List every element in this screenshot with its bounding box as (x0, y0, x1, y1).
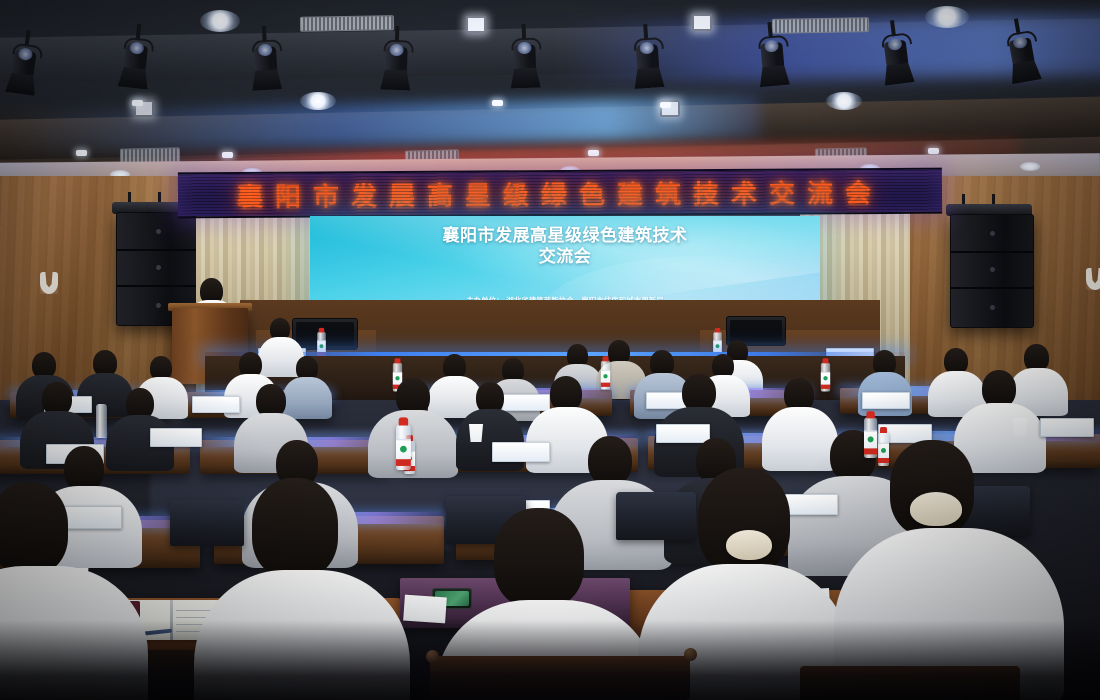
attendee-head (252, 478, 338, 578)
stage-spotlight (758, 35, 789, 91)
hair-clip (726, 530, 772, 560)
name-placard (492, 442, 550, 462)
attendee-head (494, 508, 584, 608)
ceiling-downlight (925, 6, 969, 28)
attendee-torso (762, 407, 838, 471)
water-bottle (396, 424, 411, 470)
slide-title-line2: 交流会 (310, 247, 820, 268)
led-banner-text: 襄阳市发展高星级绿色建筑技术交流会 (178, 170, 942, 217)
stage-spotlight (119, 37, 151, 93)
soffit-downlight (1020, 162, 1040, 171)
ceiling-square-light (692, 14, 712, 31)
hvac-vent (772, 17, 869, 34)
ceiling-led-marker (222, 152, 233, 158)
stage-spotlight (382, 40, 410, 95)
name-placard (150, 428, 202, 447)
line-array-speaker-right (950, 214, 1034, 328)
ceiling (0, 0, 1100, 168)
ceiling-downlight (200, 10, 240, 32)
name-placard (192, 396, 240, 413)
name-placard (656, 424, 710, 443)
chair (616, 492, 696, 540)
led-banner: 襄阳市发展高星级绿色建筑技术交流会 (178, 168, 942, 219)
hvac-vent (300, 15, 394, 32)
attendee-head (0, 482, 68, 574)
ceiling-square-light (466, 16, 486, 33)
foreground-shadow (0, 620, 1100, 700)
stage-spotlight (1006, 30, 1041, 88)
conference-hall-photo: 襄阳市发展高星级绿色建筑技术交流会 襄阳市发展高星级绿色建筑技术 交流会 主办单… (0, 0, 1100, 700)
name-placard (1040, 418, 1094, 437)
water-bottle (96, 404, 107, 438)
ceiling-led-marker (76, 150, 87, 156)
water-bottle (864, 417, 877, 458)
ceiling-downlight (826, 92, 862, 110)
ceiling-led-marker (660, 102, 671, 108)
stage-spotlight (511, 38, 539, 93)
name-placard (502, 394, 550, 411)
water-bottle (601, 361, 610, 390)
slide-title-line1: 襄阳市发展高星级绿色建筑技术 (310, 226, 820, 247)
name-placard (862, 392, 910, 409)
chair (170, 500, 244, 546)
attendee-head (588, 436, 632, 486)
slide-title: 襄阳市发展高星级绿色建筑技术 交流会 (310, 226, 820, 269)
ceiling-led-marker (588, 150, 599, 156)
paper-cup (468, 424, 484, 442)
attendee-torso (282, 377, 332, 419)
ceiling-led-marker (928, 148, 939, 154)
hair-clip (910, 492, 962, 526)
stage-spotlight (881, 33, 913, 90)
ceiling-led-marker (492, 100, 503, 106)
stage-spotlight (633, 37, 663, 93)
ceiling-led-marker (132, 100, 143, 106)
monitor-screen (730, 320, 782, 342)
paper-cup (1012, 418, 1028, 436)
water-bottle (878, 432, 889, 466)
stage-spotlight (252, 39, 281, 94)
ceiling-downlight (300, 92, 336, 110)
water-bottle (821, 363, 830, 392)
